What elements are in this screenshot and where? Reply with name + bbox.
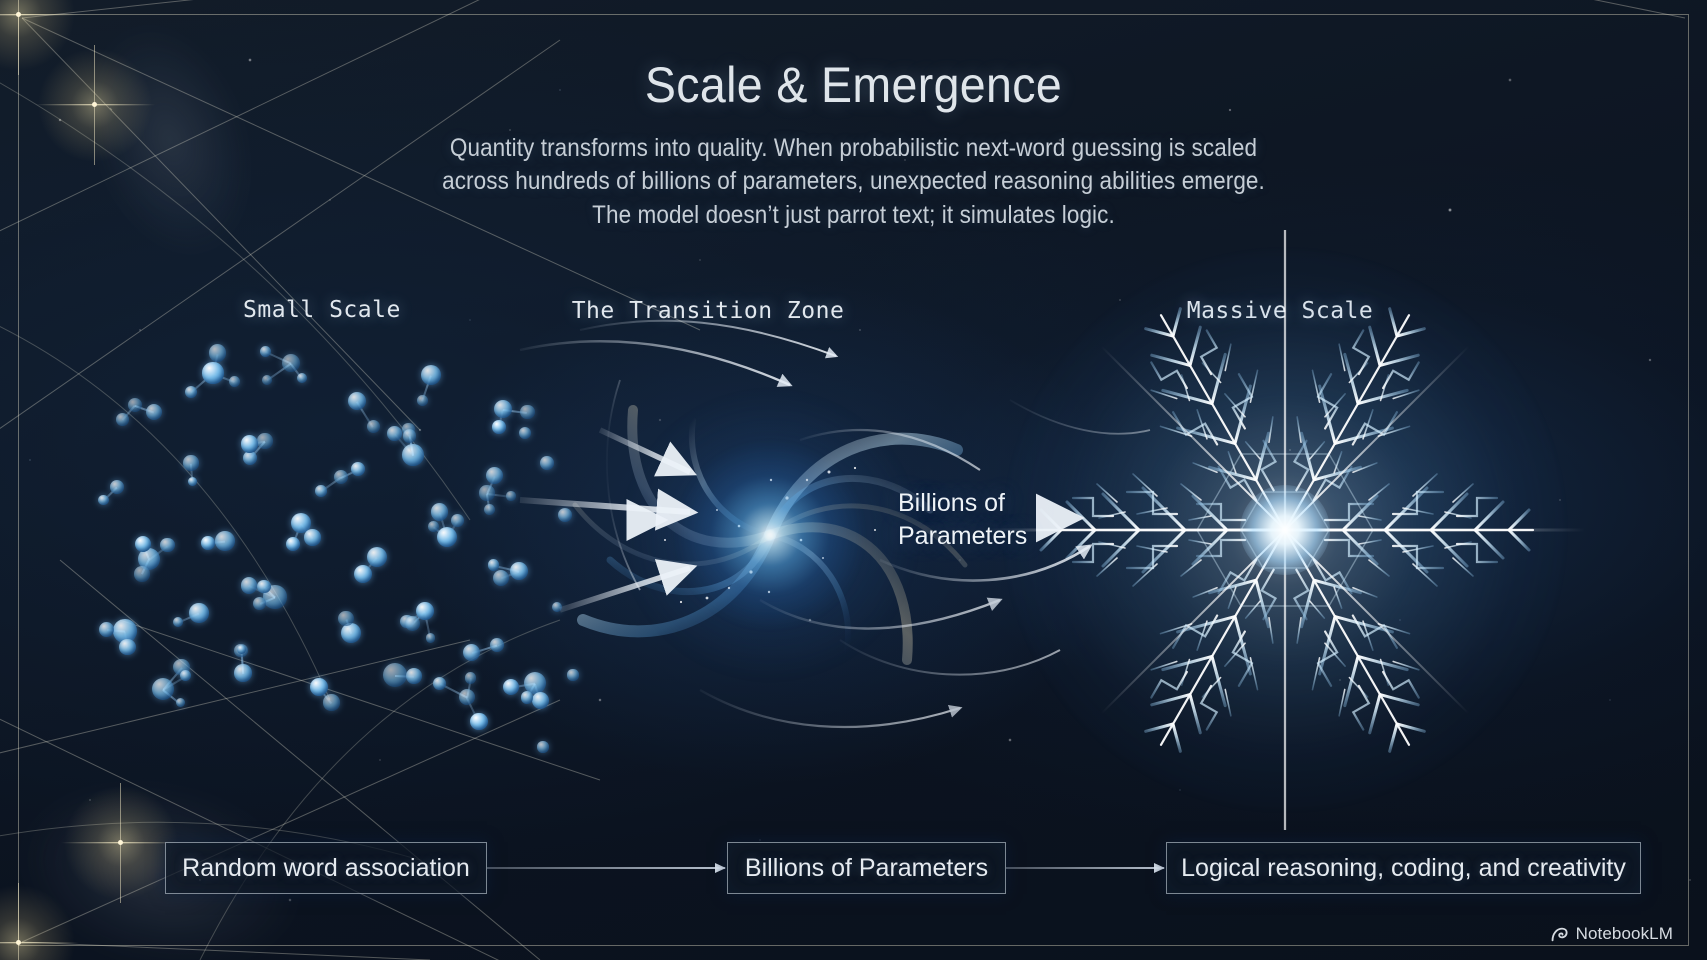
outcome-box-billions-of-parameters[interactable]: Billions of Parameters bbox=[727, 842, 1006, 894]
subtitle-line-3: The model doesn’t just parrot text; it s… bbox=[85, 199, 1621, 232]
molecule-atom bbox=[176, 698, 185, 707]
molecule-atom bbox=[146, 404, 162, 420]
molecule-atom bbox=[110, 480, 125, 495]
subtitle-line-2: across hundreds of billions of parameter… bbox=[85, 165, 1621, 198]
slide-canvas: Scale & Emergence Quantity transforms in… bbox=[0, 0, 1707, 960]
molecule-atom bbox=[470, 713, 488, 731]
molecule-atom bbox=[234, 664, 251, 681]
nebula-wisp-bottom-left bbox=[0, 719, 410, 960]
molecule-atom bbox=[431, 503, 448, 520]
molecule-atom bbox=[215, 531, 235, 551]
molecule-atom bbox=[493, 570, 509, 586]
molecule-atom bbox=[260, 346, 272, 358]
molecule-atom bbox=[490, 638, 505, 653]
molecule-atom bbox=[209, 344, 227, 362]
molecule-atom bbox=[310, 678, 328, 696]
molecule-atom bbox=[426, 633, 436, 643]
outcome-box-label: Billions of Parameters bbox=[745, 854, 988, 883]
molecule-atom bbox=[286, 537, 300, 551]
molecule-atom bbox=[297, 373, 307, 383]
molecule-atom bbox=[433, 677, 446, 690]
molecule-atom bbox=[241, 577, 258, 594]
connector-line bbox=[487, 867, 725, 869]
molecule-atom bbox=[323, 694, 339, 710]
molecule-atom bbox=[484, 504, 495, 515]
molecule-atom bbox=[492, 420, 505, 433]
snowflake-crystal bbox=[1005, 250, 1565, 810]
molecule-atom bbox=[160, 538, 174, 552]
molecule-atom bbox=[188, 477, 197, 486]
molecule-atom bbox=[229, 376, 240, 387]
molecule-atom bbox=[98, 495, 109, 506]
molecule-atom bbox=[437, 527, 457, 547]
molecule-atom bbox=[402, 444, 423, 465]
molecule-atom bbox=[421, 365, 442, 386]
outcome-box-random-word-association[interactable]: Random word association bbox=[165, 842, 487, 894]
connector-line bbox=[1006, 867, 1164, 869]
molecule-atom bbox=[451, 514, 464, 527]
molecule-atom bbox=[257, 580, 271, 594]
molecule-atom bbox=[479, 485, 494, 500]
molecule-atom bbox=[488, 559, 500, 571]
molecule-atom bbox=[183, 455, 198, 470]
molecule-atom bbox=[189, 603, 209, 623]
molecule-atom bbox=[532, 692, 549, 709]
molecule-atom bbox=[367, 547, 388, 568]
molecule-atom bbox=[241, 435, 259, 453]
star-sparkle-bottom-left bbox=[16, 940, 21, 945]
notebooklm-logo-icon bbox=[1550, 925, 1569, 944]
molecule-atom bbox=[134, 566, 150, 582]
molecule-atom bbox=[119, 639, 135, 655]
molecule-atom bbox=[465, 672, 476, 683]
molecule-atom bbox=[463, 644, 480, 661]
molecule-atom bbox=[351, 462, 365, 476]
molecule-atom bbox=[459, 689, 476, 706]
molecule-atom bbox=[405, 616, 420, 631]
vortex-core bbox=[670, 435, 870, 635]
subtitle-line-1: Quantity transforms into quality. When p… bbox=[85, 132, 1621, 165]
molecule-atom bbox=[315, 485, 327, 497]
molecule-atom bbox=[128, 398, 143, 413]
outcome-box-logical-reasoning[interactable]: Logical reasoning, coding, and creativit… bbox=[1166, 842, 1641, 894]
molecule-atom bbox=[383, 663, 407, 687]
star-sparkle-top-left bbox=[16, 12, 21, 17]
molecule-cluster-icon bbox=[95, 345, 565, 715]
page-title: Scale & Emergence bbox=[60, 56, 1648, 114]
molecule-atom bbox=[417, 395, 428, 406]
slide-header: Scale & Emergence Quantity transforms in… bbox=[0, 56, 1707, 232]
billions-of-parameters-annotation: Billions of Parameters bbox=[898, 487, 1027, 552]
molecule-atom bbox=[367, 420, 380, 433]
molecule-atom bbox=[486, 467, 503, 484]
molecule-atom bbox=[99, 622, 114, 637]
molecule-atom bbox=[354, 565, 372, 583]
molecule-atom bbox=[403, 429, 416, 442]
outcome-flow-row: Random word association Billions of Para… bbox=[0, 842, 1707, 898]
molecule-atom bbox=[338, 611, 353, 626]
watermark-brand-label: NotebookLM bbox=[1576, 924, 1673, 944]
stage-label-transition-zone: The Transition Zone bbox=[572, 298, 845, 324]
arrow-right-icon bbox=[1154, 863, 1165, 873]
arrow-right-icon bbox=[715, 863, 726, 873]
molecule-atom bbox=[506, 491, 515, 500]
flow-connector-2 bbox=[1006, 867, 1164, 869]
molecule-atom bbox=[520, 405, 535, 420]
molecule-atom bbox=[253, 597, 266, 610]
outcome-box-label: Logical reasoning, coding, and creativit… bbox=[1181, 854, 1626, 883]
molecule-atom bbox=[201, 536, 215, 550]
stage-label-small-scale: Small Scale bbox=[243, 297, 401, 323]
flow-connector-1 bbox=[487, 867, 725, 869]
molecule-atom bbox=[494, 400, 512, 418]
billions-annotation-line-1: Billions of bbox=[898, 487, 1027, 520]
molecule-atom bbox=[406, 668, 422, 684]
molecule-atom-stray bbox=[537, 741, 548, 752]
molecule-atom bbox=[416, 602, 434, 620]
molecule-atom-stray bbox=[519, 427, 532, 440]
molecule-atom bbox=[282, 354, 301, 373]
molecule-atom bbox=[387, 426, 402, 441]
molecule-atom bbox=[116, 413, 129, 426]
molecule-atom bbox=[173, 617, 183, 627]
molecule-atom bbox=[135, 536, 151, 552]
molecule-atom bbox=[262, 375, 272, 385]
page-subtitle: Quantity transforms into quality. When p… bbox=[85, 132, 1621, 232]
molecule-atom bbox=[243, 451, 257, 465]
molecule-atom bbox=[428, 521, 439, 532]
molecule-atom bbox=[503, 679, 519, 695]
molecule-atom bbox=[257, 433, 272, 448]
molecule-atom bbox=[510, 562, 528, 580]
notebooklm-watermark: NotebookLM bbox=[1550, 924, 1673, 944]
molecule-atom bbox=[521, 691, 533, 703]
molecule-atom bbox=[348, 392, 366, 410]
molecule-atom bbox=[304, 529, 320, 545]
molecule-atom bbox=[185, 386, 198, 399]
billions-annotation-line-2: Parameters bbox=[898, 520, 1027, 553]
outcome-box-label: Random word association bbox=[182, 854, 470, 883]
molecule-atom-stray bbox=[540, 456, 554, 470]
molecule-atom bbox=[334, 470, 348, 484]
molecule-atom bbox=[202, 362, 223, 383]
molecule-atom bbox=[180, 670, 191, 681]
